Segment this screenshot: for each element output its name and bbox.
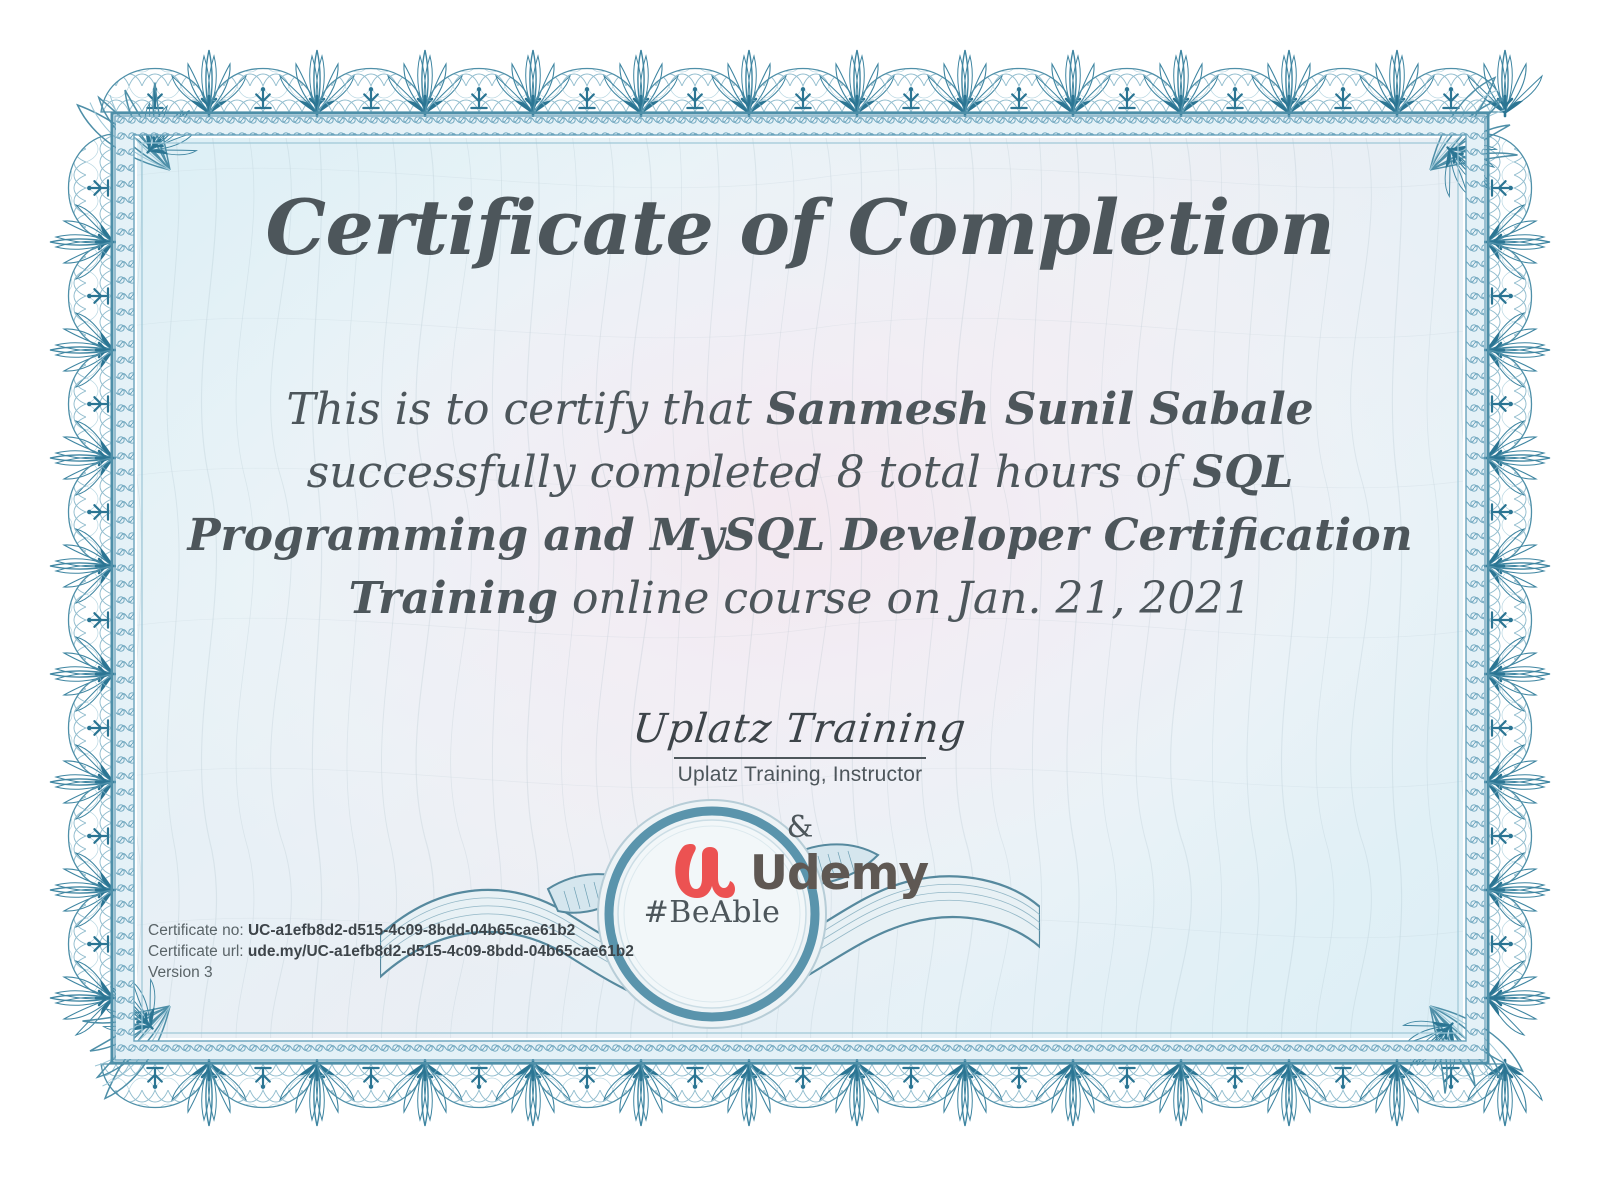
certificate-url-line: Certificate url: ude.my/UC-a1efb8d2-d515… [148,941,634,962]
certificate-document: #BeAble Certificate of Completion This i… [0,0,1600,1190]
certificate-no-value: UC-a1efb8d2-d515-4c09-8bdd-04b65cae61b2 [248,922,575,939]
certificate-content: Certificate of Completion This is to cer… [137,138,1463,1038]
certificate-version: Version 3 [148,962,634,983]
instructor-signature-block: Uplatz Training Uplatz Training, Instruc… [137,703,1463,787]
completion-date: Jan. 21, 2021 [955,573,1251,624]
udemy-logo: Udemy [137,844,1463,902]
signature-caption: Uplatz Training, Instructor [137,763,1463,787]
certificate-url-value[interactable]: ude.my/UC-a1efb8d2-d515-4c09-8bdd-04b65c… [248,943,634,960]
recipient-name: Sanmesh Sunil Sabale [766,384,1314,435]
certificate-no-label: Certificate no: [148,922,248,939]
page-title: Certificate of Completion [137,190,1463,266]
certificate-url-label: Certificate url: [148,943,248,960]
statement-lead: This is to certify that [286,384,766,435]
certificate-no-line: Certificate no: UC-a1efb8d2-d515-4c09-8b… [148,920,634,941]
certificate-metadata: Certificate no: UC-a1efb8d2-d515-4c09-8b… [148,920,634,983]
signature-rule [674,757,926,759]
udemy-wordmark: Udemy [750,850,928,897]
udemy-u-icon [672,844,736,902]
signature-script: Uplatz Training [631,703,970,755]
statement-middle: successfully completed 8 total hours of [307,447,1193,498]
statement-tail: online course on [558,573,955,624]
certificate-statement: This is to certify that Sanmesh Sunil Sa… [147,378,1453,630]
ampersand: & [137,810,1463,845]
